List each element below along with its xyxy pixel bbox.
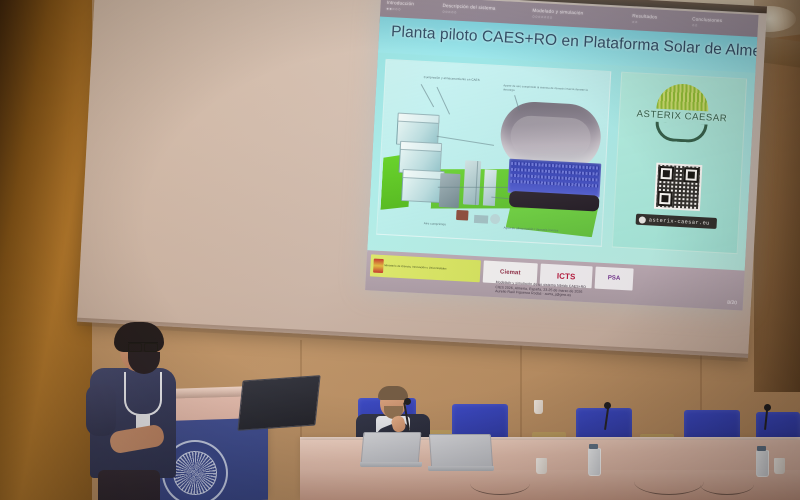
nav-item-conclusiones: Conclusiones ○○ bbox=[692, 16, 723, 30]
diagram-leader-line bbox=[437, 87, 450, 114]
water-bottle[interactable] bbox=[588, 448, 601, 476]
nav-item-introduccion: Introducción ●●○○○ bbox=[386, 0, 414, 13]
project-url: asterix-caesar.eu bbox=[636, 214, 717, 230]
cable bbox=[700, 474, 754, 495]
crest-icon bbox=[373, 259, 384, 274]
nav-item-resultados: Resultados ○○ bbox=[632, 13, 658, 26]
qr-eye bbox=[658, 166, 674, 182]
slide-page-number: 8/20 bbox=[727, 300, 737, 307]
microphone-head bbox=[764, 404, 771, 411]
paper-cup[interactable] bbox=[534, 400, 543, 414]
paper-cup[interactable] bbox=[774, 458, 785, 474]
laptop-moderator[interactable] bbox=[360, 432, 422, 466]
speaker-person bbox=[84, 322, 188, 500]
podium-laptop[interactable] bbox=[237, 375, 320, 431]
diagram-pump bbox=[456, 210, 469, 221]
diagram-valve bbox=[490, 214, 501, 225]
laptop-base bbox=[428, 466, 494, 471]
diagram-label-bottom-left: Aire comprimido bbox=[424, 222, 447, 227]
laptop-second[interactable] bbox=[428, 434, 494, 470]
lanyard bbox=[124, 372, 162, 416]
speaker-legs bbox=[98, 470, 160, 500]
slide-body: Compresión y almacenamiento en CAES Apor… bbox=[367, 52, 755, 272]
qr-code-icon bbox=[654, 163, 702, 211]
globe-icon bbox=[639, 216, 646, 223]
diagram-compressor bbox=[439, 173, 461, 208]
laptop-base bbox=[360, 462, 422, 467]
left-wall bbox=[0, 0, 92, 500]
microphone-head bbox=[604, 402, 611, 409]
microphone-head bbox=[404, 398, 411, 405]
bottle-cap bbox=[757, 446, 766, 451]
logo-gov-label: Ministerio de Ciencia, Innovación y Univ… bbox=[384, 265, 446, 272]
projection-screen: Introducción ●●○○○ Descripción del siste… bbox=[77, 0, 767, 358]
diagram-pipe-1 bbox=[437, 136, 494, 147]
project-url-text: asterix-caesar.eu bbox=[649, 217, 710, 226]
asterix-logo: ASTERIX CAESAR bbox=[619, 81, 746, 146]
diagram-turbine bbox=[463, 160, 481, 205]
qr-eye bbox=[657, 191, 673, 207]
diagram-ro-highlight bbox=[510, 115, 592, 159]
nav-item-modelado: Modelado y simulación ○○○○○○○ bbox=[532, 8, 584, 23]
project-branding-panel: ASTERIX CAESAR asterix-caesar.eu bbox=[612, 72, 747, 255]
speaker-sleeve bbox=[86, 384, 116, 436]
logo-gobierno-espana: Ministerio de Ciencia, Innovación y Univ… bbox=[370, 254, 481, 282]
moderator-hair bbox=[378, 386, 408, 400]
conference-room-photo: Introducción ●●○○○ Descripción del siste… bbox=[0, 0, 800, 500]
paper-cup[interactable] bbox=[536, 458, 547, 474]
laptop-screen bbox=[429, 434, 493, 468]
cable bbox=[634, 468, 704, 495]
qr-eye bbox=[683, 167, 699, 183]
laptop-screen bbox=[361, 432, 422, 464]
diagram-leader-line bbox=[421, 84, 434, 107]
dome-icon bbox=[656, 83, 709, 112]
nav-item-descripcion: Descripción del sistema ○○○○○ bbox=[442, 3, 496, 18]
diagram-annotation-left: Compresión y almacenamiento en CAES bbox=[424, 76, 480, 83]
projected-slide: Introducción ●●○○○ Descripción del siste… bbox=[365, 0, 758, 311]
diagram-annotation-right: Aporte de aire comprimido al sistema de … bbox=[503, 84, 595, 96]
bottle-cap bbox=[589, 444, 598, 449]
diagram-pipe-2 bbox=[438, 187, 508, 189]
water-bottle[interactable] bbox=[756, 450, 769, 477]
glasses-icon bbox=[128, 342, 158, 350]
plant-diagram: Compresión y almacenamiento en CAES Apor… bbox=[376, 59, 611, 247]
cable bbox=[470, 472, 530, 495]
smile-icon bbox=[655, 122, 708, 144]
diagram-label-bottom-right: Agua de alimentación / ósmosis inversa bbox=[504, 227, 559, 234]
diagram-skid bbox=[474, 215, 488, 224]
